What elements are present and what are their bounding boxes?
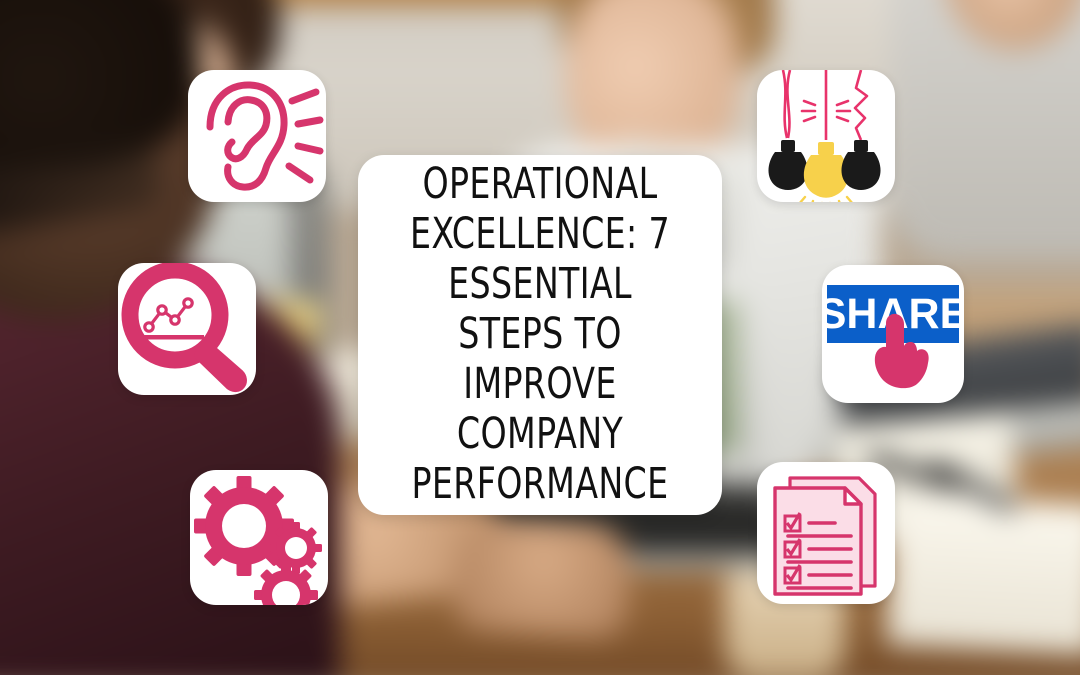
chart-magnifier-icon — [118, 263, 256, 395]
title-card: Operational Excellence: 7 Essential Step… — [358, 155, 722, 515]
share-button-icon: SHARE — [822, 265, 964, 403]
checklist-documents-icon — [757, 462, 895, 604]
listening-ear-icon — [188, 70, 326, 202]
page-title: Operational Excellence: 7 Essential Step… — [398, 160, 682, 509]
gears-icon — [190, 470, 328, 605]
poster-canvas: SHARE — [0, 0, 1080, 675]
lightbulbs-icon — [757, 70, 895, 202]
